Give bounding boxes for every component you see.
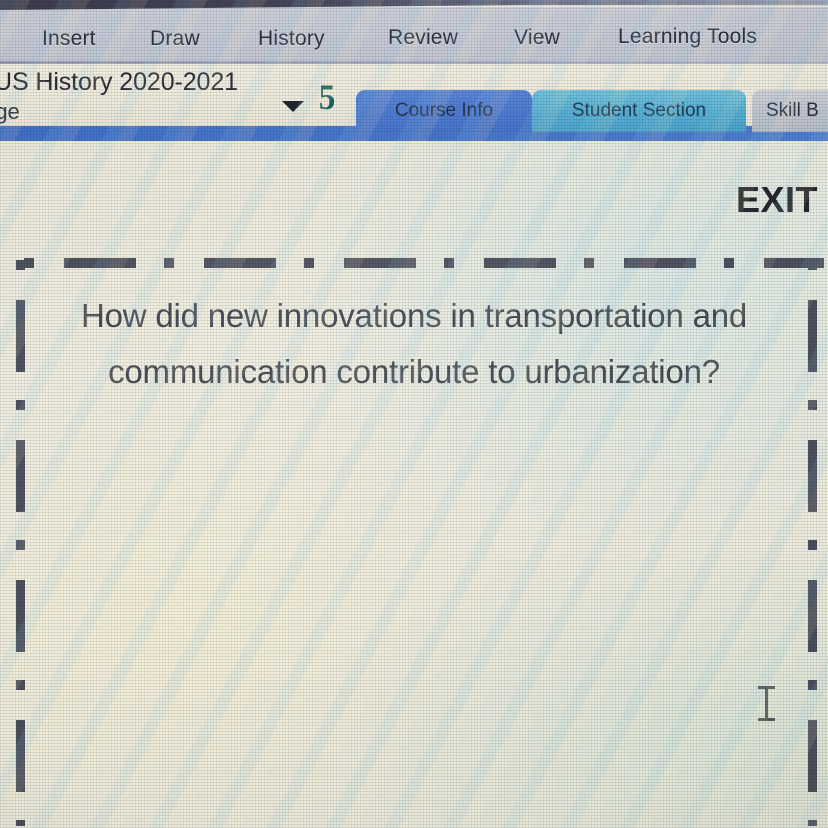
monitor-bezel-strip-right — [500, 0, 828, 5]
question-box-border-left — [16, 260, 25, 826]
chevron-down-icon[interactable] — [282, 101, 304, 112]
ribbon-tab-review[interactable]: Review — [388, 26, 458, 50]
screen-photo-root: Insert Draw History Review View Learning… — [0, 0, 828, 828]
ribbon-tab-learning-tools[interactable]: Learning Tools — [618, 25, 757, 49]
undo-arrow-icon[interactable]: 5 — [319, 76, 336, 118]
ribbon-tab-view[interactable]: View — [514, 26, 560, 50]
exit-button[interactable]: EXIT — [736, 179, 818, 221]
ibeam-stem — [765, 688, 768, 720]
question-text[interactable]: How did new innovations in transportatio… — [40, 288, 788, 400]
section-tab-skill-builder[interactable]: Skill B — [752, 90, 828, 132]
notebook-subtitle: rge — [0, 99, 20, 125]
question-box-border-top — [24, 258, 824, 268]
section-tab-student-section[interactable]: Student Section — [532, 90, 746, 132]
question-box-border-right — [808, 260, 817, 826]
ribbon-tab-list: Insert Draw History Review View Learning… — [0, 7, 828, 63]
ribbon-tab-insert[interactable]: Insert — [42, 27, 96, 51]
section-tab-course-info[interactable]: Course Info — [356, 90, 532, 132]
text-ibeam-cursor — [757, 686, 775, 722]
ribbon-tab-draw[interactable]: Draw — [150, 27, 200, 51]
ribbon-tab-history[interactable]: History — [258, 27, 325, 51]
notebook-title[interactable]: US History 2020-2021 — [0, 68, 238, 97]
ibeam-bottom-bar — [758, 718, 775, 721]
